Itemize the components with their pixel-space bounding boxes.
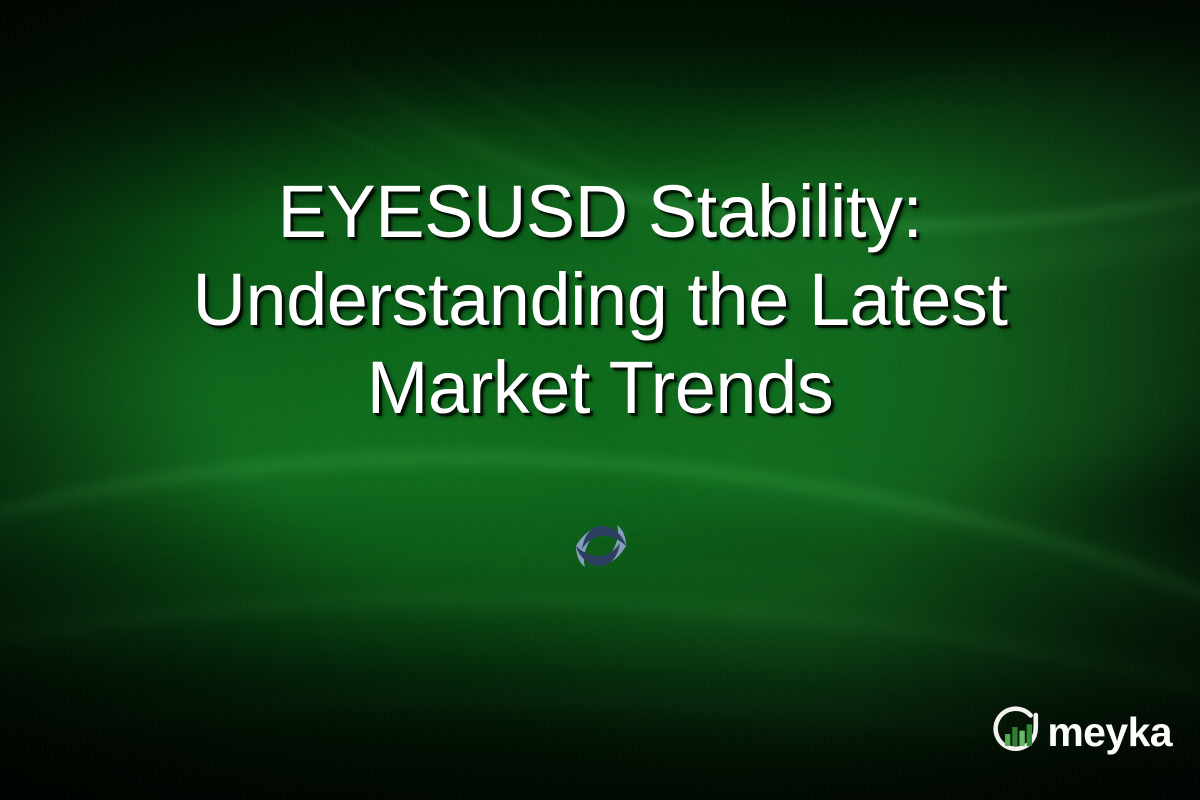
background-swoosh-lower-2-glow (0, 539, 1200, 800)
title-line-1: EYESUSD Stability: (70, 168, 1130, 256)
page-title: EYESUSD Stability: Understanding the Lat… (0, 168, 1200, 432)
title-line-3: Market Trends (70, 344, 1130, 432)
meyka-bar-chart-circle-icon (991, 706, 1043, 758)
brand-logo: meyka (991, 706, 1172, 758)
title-line-2: Understanding the Latest (70, 256, 1130, 344)
background-streak-upper-left-1 (0, 0, 688, 173)
banner-card: EYESUSD Stability: Understanding the Lat… (0, 0, 1200, 800)
background-swoosh-lower-2 (0, 550, 1200, 800)
eye-lens-logo-icon (572, 517, 630, 575)
brand-name-text: meyka (1047, 712, 1172, 753)
